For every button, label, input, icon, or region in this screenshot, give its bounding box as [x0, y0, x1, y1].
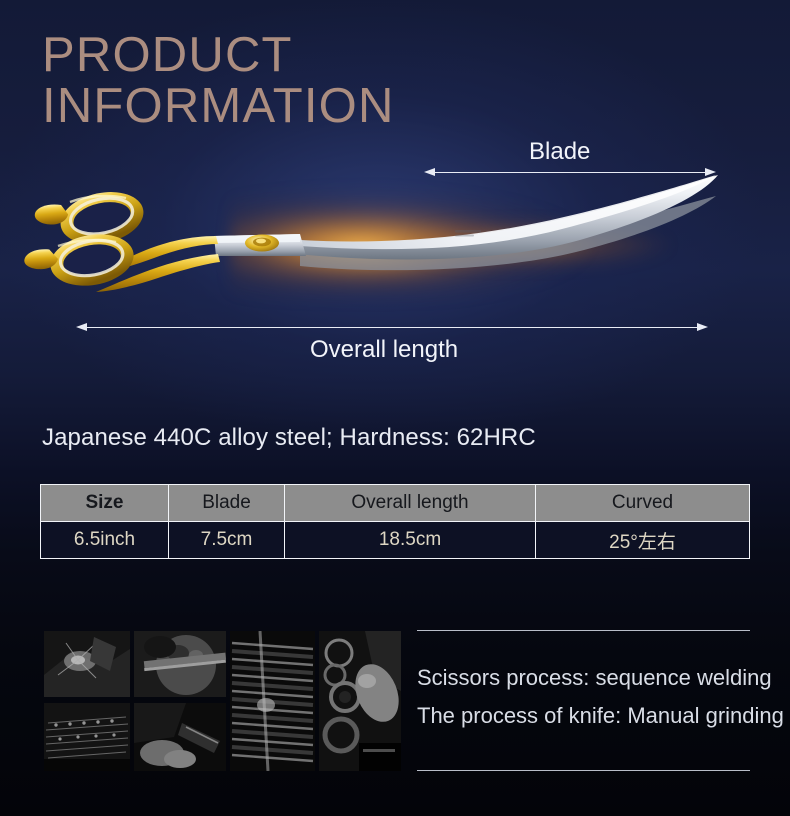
scissors-illustration	[0, 150, 790, 330]
machinist-at-grinder-photo	[319, 631, 401, 771]
table-row: 6.5inch 7.5cm 18.5cm 25°左右	[41, 522, 750, 559]
page-title: PRODUCT INFORMATION	[42, 30, 395, 132]
manufacturing-photo-collage	[44, 631, 401, 771]
page-title-line-2: INFORMATION	[42, 81, 395, 132]
table-cell-curved: 25°左右	[536, 522, 750, 559]
collage-photo-welding	[44, 631, 130, 697]
page-title-line-1: PRODUCT	[42, 30, 395, 81]
specification-table: Size Blade Overall length Curved 6.5inch…	[40, 484, 750, 559]
table-header-row: Size Blade Overall length Curved	[41, 485, 750, 522]
process-divider-top	[417, 630, 750, 631]
process-line-1: Scissors process: sequence welding	[417, 665, 772, 691]
table-header-size: Size	[41, 485, 169, 522]
table-cell-blade: 7.5cm	[169, 522, 285, 559]
worker-inspecting-blade-photo	[134, 631, 226, 697]
collage-photo-blade-rack	[230, 631, 315, 771]
blade-rack-rows-photo	[230, 631, 315, 771]
welding-sparks-photo	[44, 631, 130, 697]
material-spec-text: Japanese 440C alloy steel; Hardness: 62H…	[42, 424, 536, 452]
overall-measure-label: Overall length	[310, 336, 458, 364]
table-header-curved: Curved	[536, 485, 750, 522]
process-line-2: The process of knife: Manual grinding	[417, 703, 784, 729]
blade-blanks-tray-photo	[44, 703, 130, 771]
table-cell-overall-length: 18.5cm	[285, 522, 536, 559]
hands-grinding-photo	[134, 703, 226, 771]
product-photo	[0, 150, 790, 330]
process-divider-bottom	[417, 770, 750, 771]
table-header-blade: Blade	[169, 485, 285, 522]
table-header-overall-length: Overall length	[285, 485, 536, 522]
collage-photo-grinding-hands	[134, 703, 226, 771]
collage-photo-inspection	[134, 631, 226, 697]
collage-photo-blade-tray	[44, 703, 130, 771]
product-information-page: PRODUCT INFORMATION	[0, 0, 790, 816]
collage-photo-machinist	[319, 631, 401, 771]
table-cell-size: 6.5inch	[41, 522, 169, 559]
blade-measure-label: Blade	[529, 138, 590, 166]
